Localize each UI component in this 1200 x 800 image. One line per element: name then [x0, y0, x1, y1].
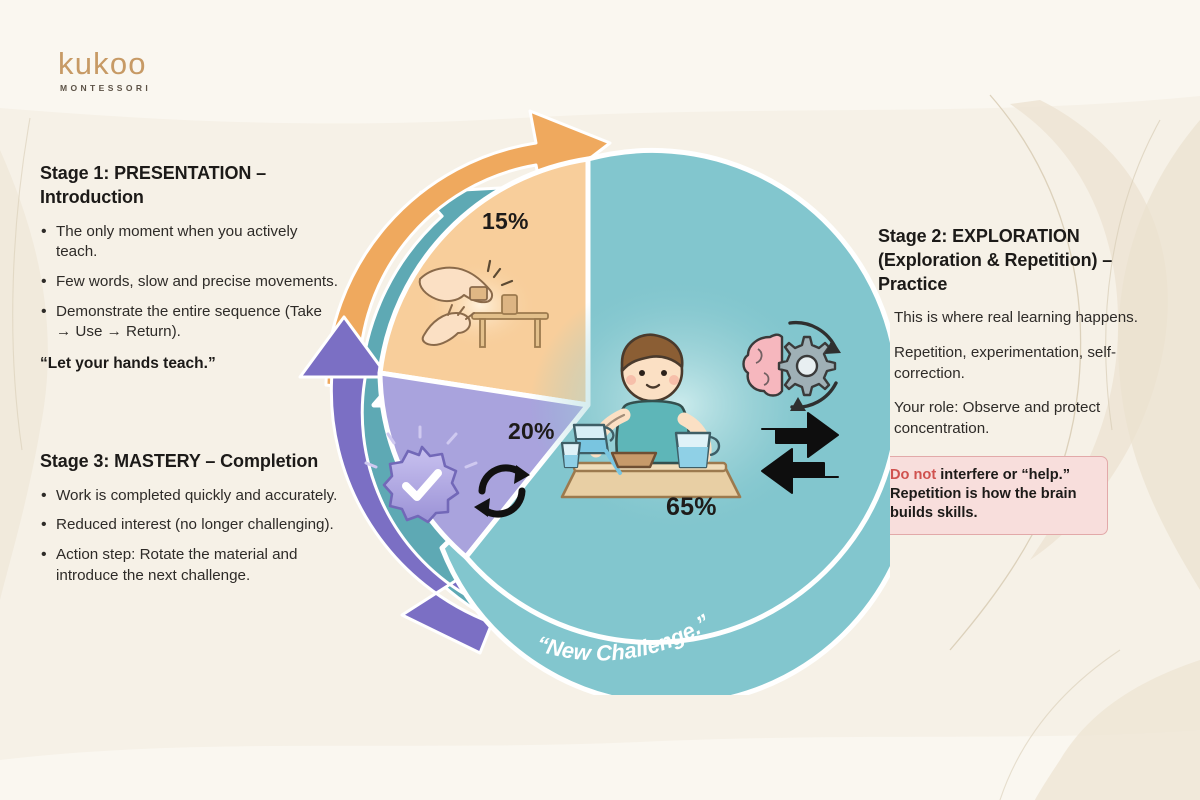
stage2-bullet-list: This is where real learning happens. Rep…	[878, 308, 1168, 439]
list-item: This is where real learning happens.	[878, 308, 1168, 329]
stage2-text-block: Stage 2: EXPLORATION (Exploration & Repe…	[878, 225, 1168, 535]
list-item: Your role: Observe and protect concentra…	[878, 398, 1168, 439]
brand-name: kukoo	[58, 48, 151, 79]
percent-label-exploration: 65%	[666, 493, 717, 522]
stage2-warning-callout: Do not interfere or “help.” Repetition i…	[878, 456, 1108, 535]
list-item: Repetition, experimentation, self-correc…	[878, 343, 1168, 384]
infographic-canvas: kukoo MONTESSORI Stage 1: PRESENTATION –…	[0, 0, 1200, 800]
brand-tagline: MONTESSORI	[60, 83, 151, 93]
brand-logo: kukoo MONTESSORI	[58, 48, 151, 93]
cycle-diagram: “New Challenge.” 15% 20% 65%	[270, 105, 890, 695]
percent-label-mastery: 20%	[508, 418, 555, 445]
warning-emphasis: Do not	[890, 467, 936, 483]
stage2-heading: Stage 2: EXPLORATION (Exploration & Repe…	[878, 225, 1168, 296]
percent-label-presentation: 15%	[482, 208, 529, 235]
